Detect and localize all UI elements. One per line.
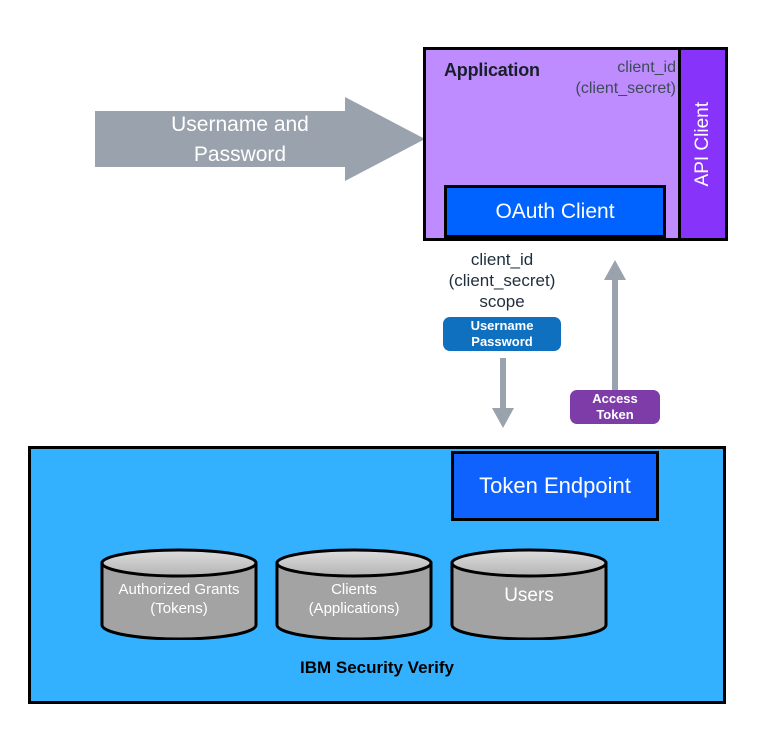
application-title: Application xyxy=(444,60,540,81)
diagram-canvas: Username and Password Application client… xyxy=(0,0,764,744)
token-request-params: client_id (client_secret) scope xyxy=(412,249,592,312)
access-token-chip-line-2: Token xyxy=(596,407,633,423)
application-box: Application client_id (client_secret) OA… xyxy=(426,50,678,238)
cylinder-icon xyxy=(274,548,434,640)
request-client-id-label: client_id xyxy=(412,249,592,270)
ibm-security-verify-panel: Token Endpoint Authorized Grants (Tokens… xyxy=(28,446,726,704)
application-client-id-label: client_id xyxy=(576,57,676,78)
arrow-label-line-1: Username and xyxy=(95,110,385,140)
oauth-client-label: OAuth Client xyxy=(495,200,614,224)
api-client-box: API Client xyxy=(678,50,725,238)
access-token-chip: Access Token xyxy=(570,390,660,424)
datastore-clients: Clients (Applications) xyxy=(274,548,434,640)
oauth-client-box: OAuth Client xyxy=(444,185,666,238)
request-scope-label: scope xyxy=(412,291,592,312)
application-credentials: client_id (client_secret) xyxy=(576,57,676,99)
username-password-chip: Username Password xyxy=(443,317,561,351)
password-chip-line-2: Password xyxy=(471,334,532,350)
request-client-secret-label: (client_secret) xyxy=(412,270,592,291)
request-arrow-down-icon xyxy=(488,358,518,430)
api-client-label: API Client xyxy=(692,102,714,186)
datastore-users: Users xyxy=(449,548,609,640)
username-password-arrow-label: Username and Password xyxy=(95,110,385,170)
token-endpoint-box: Token Endpoint xyxy=(451,451,659,521)
access-token-chip-line-1: Access xyxy=(592,391,638,407)
response-arrow-up-icon xyxy=(600,258,630,396)
ibm-security-verify-title: IBM Security Verify xyxy=(31,658,723,678)
arrow-label-line-2: Password xyxy=(95,140,385,170)
datastore-authorized-grants: Authorized Grants (Tokens) xyxy=(99,548,259,640)
cylinder-icon xyxy=(449,548,609,640)
username-chip-line-1: Username xyxy=(471,318,534,334)
cylinder-icon xyxy=(99,548,259,640)
application-container: Application client_id (client_secret) OA… xyxy=(423,47,728,241)
application-client-secret-label: (client_secret) xyxy=(576,78,676,99)
token-endpoint-label: Token Endpoint xyxy=(479,473,631,499)
